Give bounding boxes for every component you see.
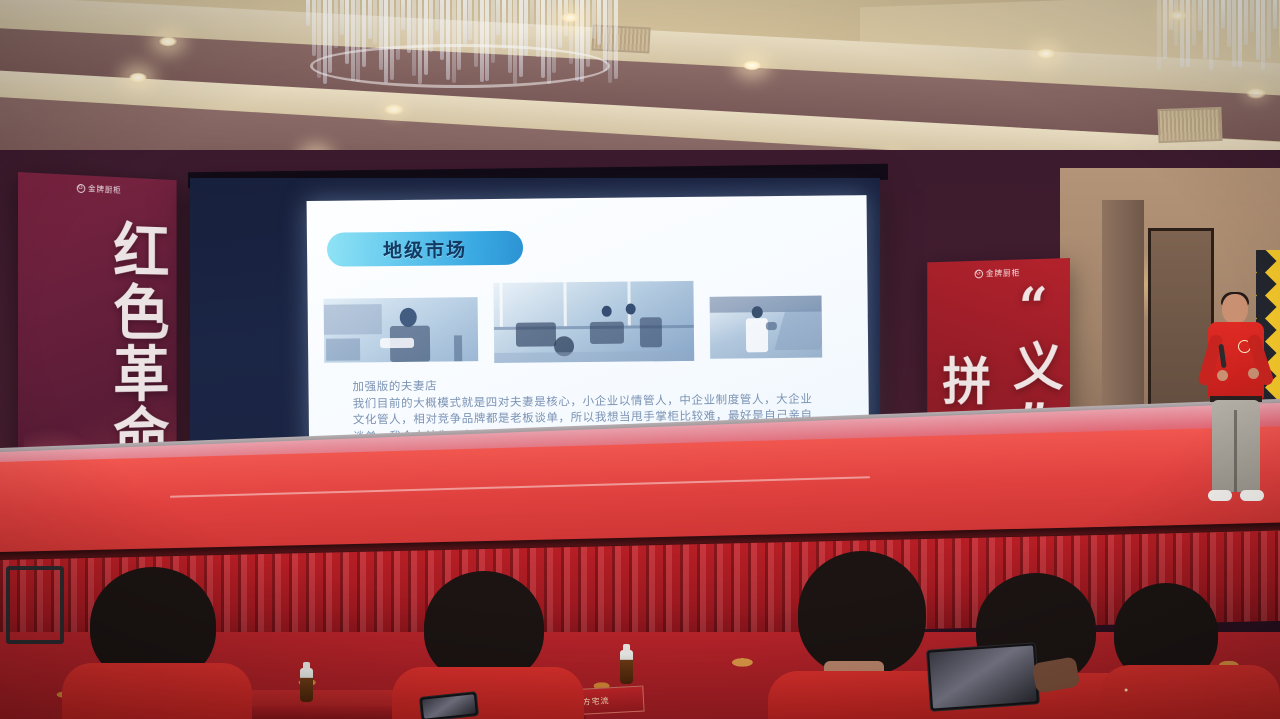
- photo-man-reading-documents: [324, 297, 479, 363]
- g-mark-icon: G: [77, 184, 85, 193]
- chandelier-crystal-strand: [446, 0, 450, 80]
- chandelier-crystal-strand: [379, 0, 383, 70]
- chandelier-crystal-strand: [351, 0, 355, 81]
- audience-right-filming: ●: [1100, 569, 1280, 719]
- chandelier-crystal-strand: [485, 0, 489, 81]
- conference-hall-photo: /*strands injected*/ G金牌厨柜 红色革命 G金牌厨柜 “义…: [0, 0, 1280, 719]
- slide-photo-strip: [323, 279, 854, 365]
- chandelier-crystal-strand: [614, 0, 618, 79]
- chandelier-crystal-strand: [502, 0, 506, 49]
- chandelier-crystal-strand: [1267, 0, 1271, 58]
- chandelier-crystal-strand: [468, 0, 472, 40]
- chandelier-crystal-strand: [362, 0, 366, 67]
- chandelier-crystal-strand: [547, 0, 551, 84]
- chandelier-crystal-strand: [418, 0, 422, 84]
- chandelier-crystal-strand: [1256, 0, 1260, 60]
- chandelier-crystal-strand: [312, 0, 316, 56]
- chandelier-crystal-strand: [323, 0, 327, 84]
- ceiling-vent-icon: [1157, 107, 1222, 143]
- chandelier-crystal-strand: [412, 0, 416, 76]
- chandelier-crystal-strand: [1215, 0, 1219, 58]
- chandelier-crystal-strand: [491, 0, 495, 63]
- chandelier-crystal-strand: [452, 0, 456, 83]
- water-bottle: [300, 668, 313, 702]
- chandelier-crystal-strand: [513, 0, 517, 84]
- chandelier-crystal-strand: [524, 0, 528, 56]
- presenter-head: [1222, 294, 1248, 324]
- chandelier-crystal-strand: [1203, 0, 1207, 59]
- chandelier-crystal-strand: [480, 0, 484, 82]
- presenter-hand-right: [1248, 368, 1259, 379]
- chandelier-crystal-strand: [435, 0, 439, 31]
- crystal-chandelier: /*strands injected*/: [300, 0, 630, 97]
- chandelier-crystal-strand: [390, 0, 394, 80]
- smartphone-screen: [422, 694, 476, 718]
- chandelier-crystal-strand: [368, 0, 372, 39]
- chandelier-crystal-strand: [1174, 0, 1178, 46]
- chandelier-crystal-strand: [603, 0, 607, 71]
- chandelier-crystal-strand: [1198, 0, 1202, 31]
- chandelier-crystal-strand: [396, 0, 400, 60]
- chair-back: [6, 566, 64, 644]
- ceiling-downlight: [742, 60, 762, 71]
- chandelier-crystal-strand: [474, 0, 478, 67]
- chandelier-crystal-strand: [384, 0, 388, 83]
- chandelier-crystal-strand: [1232, 0, 1236, 67]
- chandelier-crystal-strand: [597, 0, 601, 45]
- chandelier-crystal-strand: [1192, 0, 1196, 46]
- ceiling-downlight: [128, 72, 148, 83]
- ceiling-downlight: [158, 36, 178, 47]
- photo-open-plan-office: [493, 281, 694, 363]
- chandelier-crystal-strand: [558, 0, 562, 48]
- smartphone-screen: [929, 645, 1037, 708]
- chandelier-crystal-strand: [530, 0, 534, 27]
- chandelier-crystal-strand: [401, 0, 405, 30]
- chandelier-crystal-strand: [345, 0, 349, 64]
- slide-title-pill: 地级市场: [327, 231, 523, 267]
- chandelier-crystal-strand: [580, 0, 584, 82]
- chandelier-crystal-strand: [508, 0, 512, 73]
- chandelier-crystal-strand: [328, 0, 332, 73]
- chandelier-crystal-strand: [334, 0, 338, 48]
- ceiling-downlight: [1168, 10, 1188, 21]
- chandelier-crystal-strand: [1261, 0, 1265, 70]
- chandelier-crystal-strand: [463, 0, 467, 44]
- chandelier-crystal-strand: [424, 0, 428, 75]
- chandelier-crystal-strand: [1221, 0, 1225, 29]
- ceiling-downlight: [1036, 48, 1056, 59]
- chandelier-crystal-strand: [1186, 0, 1190, 67]
- smartphone-on-table[interactable]: [419, 691, 479, 719]
- photo-woman-walking-with-tablet: [710, 296, 823, 359]
- chandelier-crystal-strand: [1250, 0, 1254, 32]
- presenter-shoe-right: [1240, 490, 1264, 501]
- smartphone-recording[interactable]: [926, 642, 1040, 712]
- brand-logo-left: G金牌厨柜: [18, 180, 177, 198]
- audience-front-left: [62, 559, 252, 719]
- chandelier-crystal-strand: [1157, 0, 1161, 70]
- chandelier-crystal-strand: [317, 0, 321, 78]
- presenter-trousers: [1212, 400, 1260, 492]
- chandelier-crystal-strand: [592, 0, 596, 39]
- water-bottle: [620, 650, 633, 684]
- chandelier-crystal-strand: [1209, 0, 1213, 70]
- chandelier-crystal-strand: [1238, 0, 1242, 67]
- slide-title: 地级市场: [383, 235, 467, 263]
- presenter-shoe-left: [1208, 490, 1232, 501]
- chandelier-crystal-strand: [586, 0, 590, 67]
- chandelier-crystal-strand: [1163, 0, 1167, 59]
- chandelier-crystal-strand: [340, 0, 344, 35]
- ceiling-downlight: [1246, 88, 1266, 99]
- chandelier-crystal-strand: [541, 0, 545, 78]
- chandelier-crystal-strand: [1273, 0, 1277, 29]
- brand-name-left: 金牌厨柜: [88, 184, 121, 194]
- chandelier-crystal-strand: [407, 0, 411, 53]
- chandelier-crystal-strand: [1227, 0, 1231, 47]
- chandelier-crystal-strand: [552, 0, 556, 73]
- chandelier-crystal-strand: [306, 0, 310, 26]
- presenter-hand-left: [1217, 370, 1228, 381]
- chandelier-crystal-strand: [1244, 0, 1248, 45]
- presenter: [1196, 294, 1276, 510]
- chandelier-crystal-strand: [608, 0, 612, 83]
- chandelier-crystal-strand: [536, 0, 540, 57]
- chandelier-crystal-strand: [457, 0, 461, 70]
- chandelier-crystal-strand: [429, 0, 433, 52]
- chandelier-crystal-strand: [569, 0, 573, 64]
- chandelier-crystal-strand: [519, 0, 523, 77]
- ceiling-downlight: [560, 12, 580, 23]
- chandelier-crystal-strand: [373, 0, 377, 44]
- chandelier-crystal-strand: [440, 0, 444, 60]
- ceiling-downlight: [384, 104, 404, 115]
- name-card-text: 方宅流: [582, 695, 610, 707]
- chandelier-crystal-strand: [496, 0, 500, 35]
- chandelier-crystal-strand: [356, 0, 360, 82]
